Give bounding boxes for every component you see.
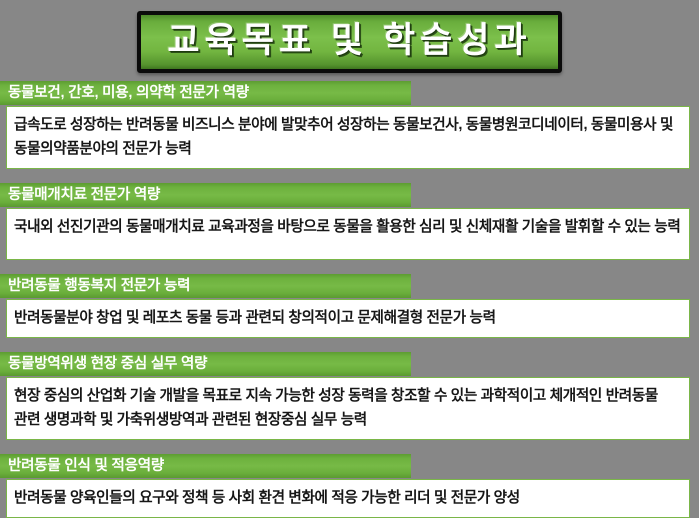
section-body-box: 반려동물 양육인들의 요구와 정책 등 사회 환견 변화에 적응 가능한 리더 … [6,479,690,518]
section-header-label: 동물방역위생 현장 중심 실무 역량 [8,354,411,375]
section-body-text: 급속도로 성장하는 반려동물 비즈니스 분야에 발맞추어 성장하는 동물보건사,… [14,113,681,161]
section-body-box: 현장 중심의 산업화 기술 개발을 목표로 지속 가능한 성장 동력을 창조할 … [6,377,690,440]
slide-title-box: 교육목표 및 학습성과 [137,11,561,73]
competency-section: 반려동물 행동복지 전문가 능력 반려동물분야 창업 및 레포츠 동물 등과 관… [0,274,699,338]
section-header-label: 동물보건, 간호, 미용, 의약학 전문가 역량 [8,83,411,104]
section-header-label: 반려동물 인식 및 적응역량 [8,456,411,477]
section-header-bar: 동물방역위생 현장 중심 실무 역량 [0,352,411,376]
section-body-box: 반려동물분야 창업 및 레포츠 동물 등과 관련되 창의적이고 문제해결형 전문… [6,299,690,338]
page-title: 교육목표 및 학습성과 [167,20,531,61]
section-header-bar: 동물매개치료 전문가 역량 [0,183,411,207]
section-header-label: 동물매개치료 전문가 역량 [8,185,411,206]
section-body-text: 국내외 선진기관의 동물매개치료 교육과정을 바탕으로 동물을 활용한 심리 및… [14,215,681,239]
section-body-text: 현장 중심의 산업화 기술 개발을 목표로 지속 가능한 성장 동력을 창조할 … [14,384,681,432]
section-header-bar: 반려동물 인식 및 적응역량 [0,454,411,478]
section-body-box: 급속도로 성장하는 반려동물 비즈니스 분야에 발맞추어 성장하는 동물보건사,… [6,106,690,169]
section-body-box: 국내외 선진기관의 동물매개치료 교육과정을 바탕으로 동물을 활용한 심리 및… [6,208,690,260]
competency-section: 동물보건, 간호, 미용, 의약학 전문가 역량 급속도로 성장하는 반려동물 … [0,81,699,169]
section-header-label: 반려동물 행동복지 전문가 능력 [8,276,411,297]
competency-section: 동물방역위생 현장 중심 실무 역량 현장 중심의 산업화 기술 개발을 목표로… [0,352,699,440]
section-body-text: 반려동물 양육인들의 요구와 정책 등 사회 환견 변화에 적응 가능한 리더 … [14,486,681,510]
section-header-bar: 반려동물 행동복지 전문가 능력 [0,274,411,298]
competency-section: 동물매개치료 전문가 역량 국내외 선진기관의 동물매개치료 교육과정을 바탕으… [0,183,699,260]
section-header-bar: 동물보건, 간호, 미용, 의약학 전문가 역량 [0,81,411,105]
competency-section-list: 동물보건, 간호, 미용, 의약학 전문가 역량 급속도로 성장하는 반려동물 … [0,81,699,518]
section-body-text: 반려동물분야 창업 및 레포츠 동물 등과 관련되 창의적이고 문제해결형 전문… [14,306,681,330]
competency-section: 반려동물 인식 및 적응역량 반려동물 양육인들의 요구와 정책 등 사회 환견… [0,454,699,518]
slide-title-container: 교육목표 및 학습성과 [0,11,699,73]
slide-canvas: 교육목표 및 학습성과 동물보건, 간호, 미용, 의약학 전문가 역량 급속도… [0,0,699,480]
